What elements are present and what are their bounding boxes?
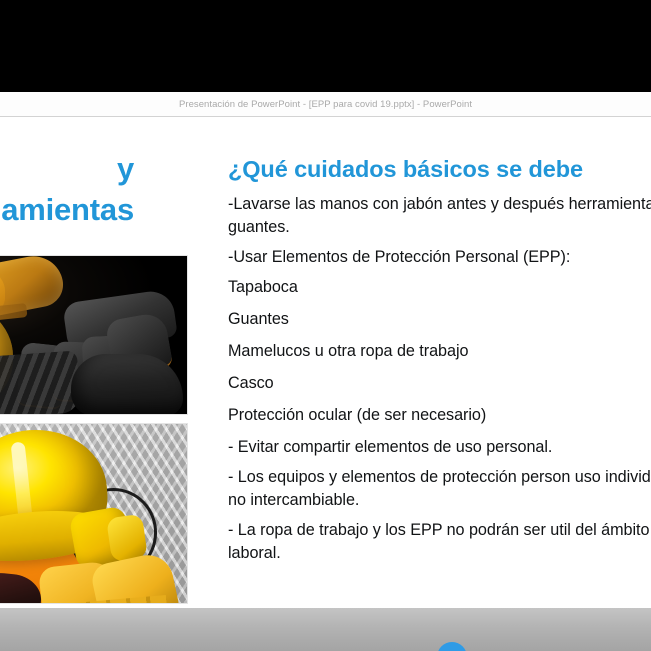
left-title-line-2: amientas	[0, 190, 134, 231]
bottom-gray-band	[0, 608, 651, 651]
top-black-band	[0, 0, 651, 92]
slide-paragraph-individual-use: - Los equipos y elementos de protección …	[228, 466, 651, 512]
photo1-boot-shape	[71, 354, 183, 414]
ppe-photo-2-canvas	[0, 424, 187, 603]
slide-paragraph-use-ppe: -Usar Elementos de Protección Personal (…	[228, 246, 651, 269]
slide-ppe-item-eye-protection: Protección ocular (de ser necesario)	[228, 404, 651, 427]
ppe-photo-dark-equipment	[0, 255, 188, 415]
slide-paragraph-workwear-restriction: - La ropa de trabajo y los EPP no podrán…	[228, 519, 651, 565]
powerpoint-slideshow-window: Presentación de PowerPoint - [EPP para c…	[0, 0, 651, 651]
left-title-line-1: y	[0, 149, 134, 190]
slide-ppe-item-coveralls: Mamelucos u otra ropa de trabajo	[228, 340, 651, 363]
slide-paragraph-handwashing: -Lavarse las manos con jabón antes y des…	[228, 193, 651, 239]
ppe-photo-1-canvas	[0, 256, 187, 414]
slide-ppe-item-helmet: Casco	[228, 372, 651, 395]
slide-ppe-item-mask: Tapaboca	[228, 276, 651, 299]
slide-left-title: y amientas	[0, 149, 134, 231]
slide-paragraph-avoid-sharing: - Evitar compartir elementos de uso pers…	[228, 436, 651, 459]
slide-right-content: ¿Qué cuidados básicos se debe -Lavarse l…	[228, 155, 651, 572]
window-titlebar: Presentación de PowerPoint - [EPP para c…	[0, 92, 651, 116]
slide-ppe-item-gloves: Guantes	[228, 308, 651, 331]
slide-question-heading: ¿Qué cuidados básicos se debe	[228, 155, 651, 183]
window-title-text: Presentación de PowerPoint - [EPP para c…	[179, 99, 472, 110]
slide-canvas: y amientas	[0, 117, 651, 608]
ppe-photo-yellow-equipment	[0, 423, 188, 604]
photo1-boot-sole-shape	[0, 350, 81, 414]
